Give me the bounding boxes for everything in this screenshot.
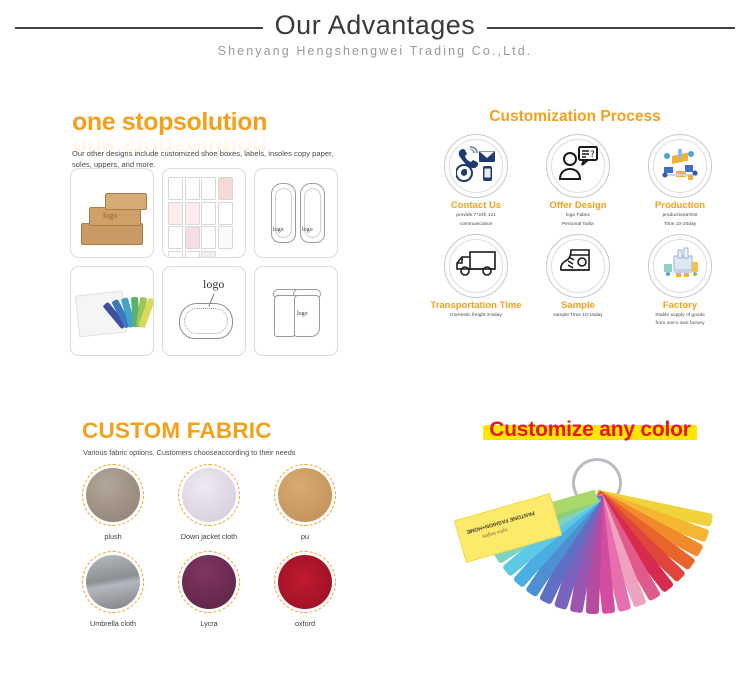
contact-icons <box>456 146 496 187</box>
customize-any-color-section: Customize any color PANTONE FASHION+HOME… <box>440 408 740 658</box>
production-icon <box>658 145 702 188</box>
process-step-name: Transportation Time <box>428 301 524 311</box>
pantone-fan-deck[interactable]: PANTONE FASHION+HOME nylon brights <box>450 452 730 642</box>
one-stop-solution-section: one stopsolution one stopsolution Our ot… <box>60 100 350 365</box>
swatch-color <box>278 468 332 522</box>
process-step-name: Contact Us <box>428 201 524 211</box>
process-circle: ? <box>546 134 610 198</box>
fabric-label: plush <box>72 532 154 541</box>
fabric-swatch-grid: plush Down jacket cloth pu Umbrella c <box>72 464 352 638</box>
tile-boots[interactable]: logo <box>254 266 338 356</box>
fabric-subtitle: Various fabric options, Customers choose… <box>83 448 295 457</box>
tile-shoe-sole[interactable]: logo <box>162 266 246 356</box>
process-circle <box>648 134 712 198</box>
fabric-label: Down jacket cloth <box>168 532 250 541</box>
tile-logo-label: logo <box>297 311 308 317</box>
color-title-wrap: Customize any color <box>440 418 740 442</box>
fabric-label: Lycra <box>168 619 250 628</box>
tile-shoe-boxes[interactable]: logo <box>70 168 154 258</box>
process-step-desc-1: Domestic freight 3-5day <box>428 312 524 319</box>
process-step-name: Sample <box>530 301 626 311</box>
swatch-ring <box>178 551 240 613</box>
fabric-swatch-oxford[interactable]: oxford <box>264 551 346 628</box>
process-step-offer-design[interactable]: ? Offer Design logo Fabric Personal Tail… <box>530 134 626 228</box>
one-stop-description: Our other designs include customized sho… <box>72 148 337 170</box>
boot-icon <box>557 247 599 284</box>
process-step-desc-1: sample Time 10-15day <box>530 312 626 319</box>
process-circle <box>648 234 712 298</box>
color-title: Customize any color <box>489 418 691 441</box>
swatch-color <box>86 468 140 522</box>
swatch-ring <box>274 464 336 526</box>
process-title: Customization Process <box>420 108 730 126</box>
fabric-swatch-down-jacket-cloth[interactable]: Down jacket cloth <box>168 464 250 541</box>
swatch-color <box>86 555 140 609</box>
swatch-ring <box>178 464 240 526</box>
swatch-ring <box>274 551 336 613</box>
tile-logo-label: logo <box>273 227 284 233</box>
process-step-contact-us[interactable]: Contact Us provide 7*24h 1v1 communicati… <box>428 134 524 228</box>
tile-logo-label: logo <box>103 211 117 220</box>
process-circle <box>444 234 508 298</box>
swatch-color <box>182 468 236 522</box>
fabric-swatch-plush[interactable]: plush <box>72 464 154 541</box>
swatch-color <box>182 555 236 609</box>
process-step-desc-2: from one's own factory <box>632 320 728 327</box>
process-step-desc-1: production&Test <box>632 212 728 219</box>
process-step-transportation-time[interactable]: Transportation Time Domestic freight 3-5… <box>428 234 524 328</box>
fabric-swatch-pu[interactable]: pu <box>264 464 346 541</box>
tile-insoles[interactable]: logo logo <box>254 168 338 258</box>
process-step-name: Factory <box>632 301 728 311</box>
designer-icon: ? <box>557 146 599 187</box>
process-step-desc-2: Time 10-20day <box>632 221 728 228</box>
fabric-title: CUSTOM FABRIC <box>82 418 272 444</box>
process-step-desc-1: logo Fabric <box>530 212 626 219</box>
swatch-ring <box>82 464 144 526</box>
fabric-swatch-lycra[interactable]: Lycra <box>168 551 250 628</box>
truck-icon <box>454 247 498 284</box>
svg-text:?: ? <box>590 150 595 160</box>
page-header: Our Advantages Shenyang Hengshengwei Tra… <box>0 0 750 78</box>
fabric-label: oxford <box>264 619 346 628</box>
process-step-desc-1: Stable supply of goods <box>632 312 728 319</box>
product-tile-grid: logo logo <box>70 168 338 364</box>
title-highlight: Customize any color <box>483 418 697 442</box>
tile-logo-label: logo <box>203 277 224 292</box>
tile-hang-tags[interactable] <box>162 168 246 258</box>
swatch-color <box>278 555 332 609</box>
process-step-name: Offer Design <box>530 201 626 211</box>
factory-icon <box>658 246 702 285</box>
custom-fabric-section: CUSTOM FABRIC Various fabric options, Cu… <box>60 408 360 658</box>
fabric-swatch-umbrella-cloth[interactable]: Umbrella cloth <box>72 551 154 628</box>
fabric-label: pu <box>264 532 346 541</box>
swatch-ring <box>82 551 144 613</box>
process-step-desc-1: provide 7*24h 1v1 <box>428 212 524 219</box>
process-grid: Contact Us provide 7*24h 1v1 communicati… <box>428 134 728 333</box>
process-step-production[interactable]: Production production&Test Time 10-20day <box>632 134 728 228</box>
fabric-label: Umbrella cloth <box>72 619 154 628</box>
process-circle <box>444 134 508 198</box>
customization-process-section: Customization Process <box>420 100 730 365</box>
one-stop-title: one stopsolution <box>72 110 267 135</box>
company-name: Shenyang Hengshengwei Trading Co.,Ltd. <box>0 44 750 58</box>
process-circle <box>546 234 610 298</box>
tile-logo-label-2: logo <box>302 227 313 233</box>
tile-copy-paper[interactable] <box>70 266 154 356</box>
process-step-sample[interactable]: Sample sample Time 10-15day <box>530 234 626 328</box>
process-step-desc-2: Personal Tailor <box>530 221 626 228</box>
process-step-factory[interactable]: Factory Stable supply of goods from one'… <box>632 234 728 328</box>
page-title: Our Advantages <box>0 10 750 41</box>
process-step-name: Production <box>632 201 728 211</box>
process-step-desc-2: communication <box>428 221 524 228</box>
